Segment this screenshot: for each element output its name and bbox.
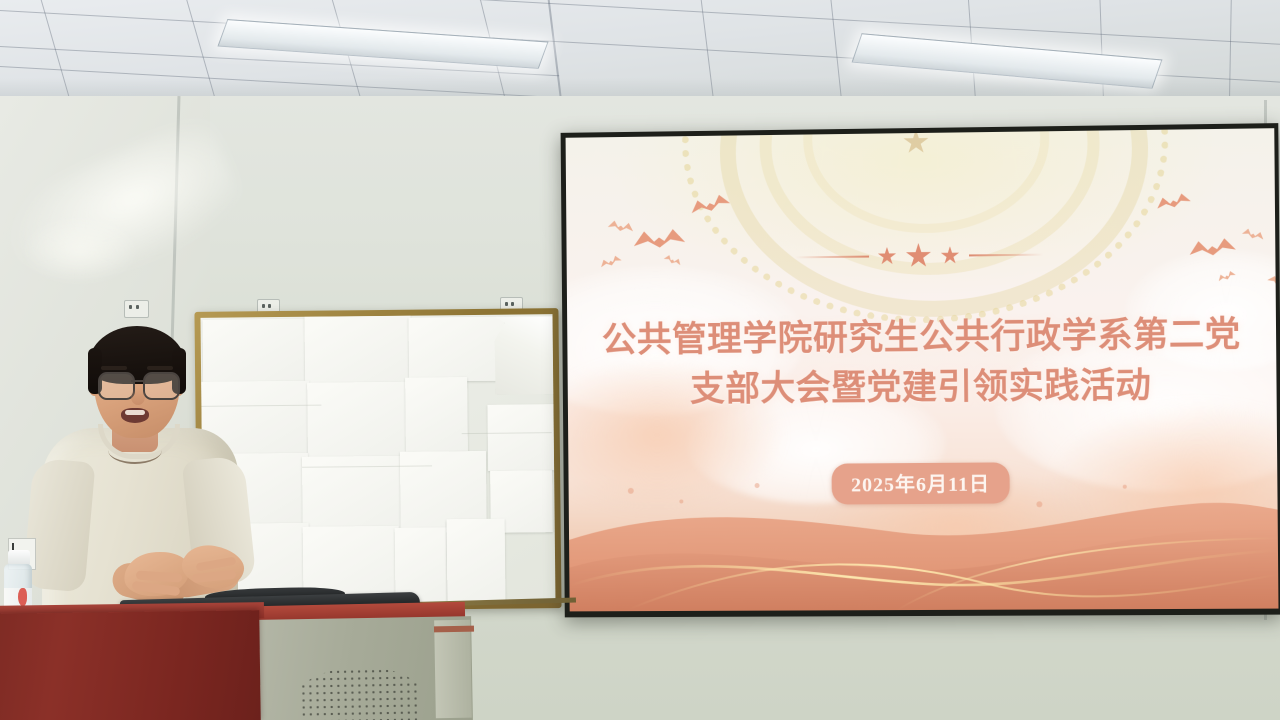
speaker-cabinet-side [434,620,472,719]
fluorescent-light-panel [217,19,548,69]
star-icon [940,246,959,265]
paper-sheet [307,382,408,459]
paper-sheet-curled [495,316,554,395]
dunes-icon [569,478,1279,612]
paper-sheet [405,377,468,452]
dunes-graphic [569,478,1279,612]
ornament-line-left [795,256,869,259]
wall-light-reflection-2 [20,215,140,285]
presenter-mouth [121,408,149,423]
presenter-nose [131,388,145,405]
ornament-line-right [969,254,1043,257]
paper-sheet [487,404,554,471]
slide-title: 公共管理学院研究生公共行政学系第二党 支部大会暨党建引领实践活动 [567,309,1277,415]
speaker-cabinet-trim [434,626,474,633]
ceiling [0,0,1280,108]
presenter-sleeve-left [22,458,95,593]
flying-dove-icon [1155,190,1193,216]
paper-sheet [409,317,506,382]
presenter-eyebrow-left [101,366,127,370]
star-icon [905,243,931,269]
paper-sheet [304,316,411,387]
flying-dove-icon [607,219,635,238]
paper-sheet [447,519,506,604]
water-bottle-logo [18,588,27,606]
lectern [0,610,261,720]
paper-sheet [400,451,487,530]
eyeglasses-icon [98,372,135,400]
presenter-necklace [108,436,162,464]
projection-screen-frame: 公共管理学院研究生公共行政学系第二党 支部大会暨党建引领实践活动 2025年6月… [561,123,1280,617]
presenter-eyebrow-right [147,366,173,370]
projection-screen: 公共管理学院研究生公共行政学系第二党 支部大会暨党建引领实践活动 2025年6月… [566,128,1279,611]
slide-title-line-2: 支部大会暨党建引领实践活动 [568,360,1277,416]
star-icon [877,247,896,266]
eyeglasses-bridge [131,380,143,382]
slide-title-line-1: 公共管理学院研究生公共行政学系第二党 [567,309,1276,365]
photo-scene: 公共管理学院研究生公共行政学系第二党 支部大会暨党建引领实践活动 2025年6月… [0,0,1280,720]
eyeglasses-icon [143,372,180,400]
wall-power-socket [124,300,149,318]
